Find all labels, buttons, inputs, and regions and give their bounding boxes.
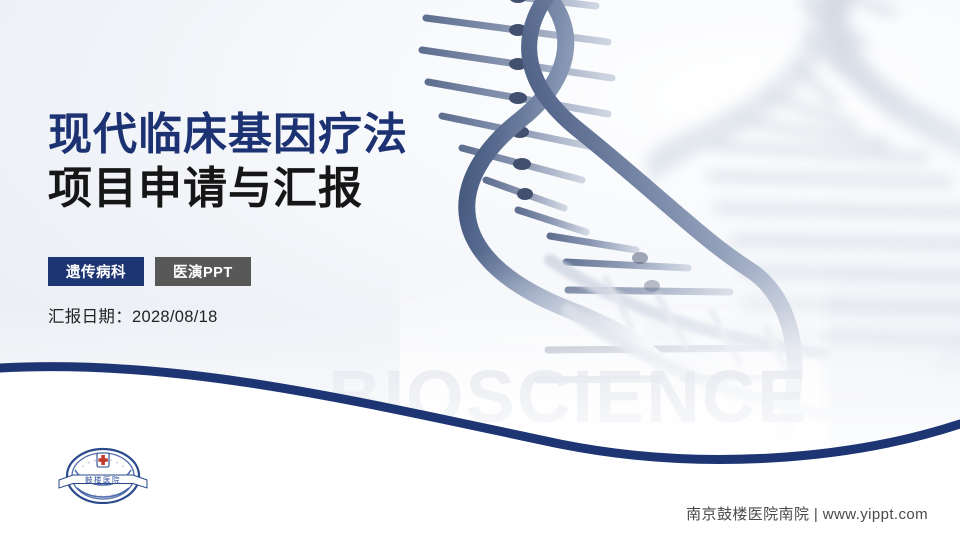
badge-department[interactable]: 遗传病科 [48,257,144,286]
footer-credit: 南京鼓楼医院南院 | www.yippt.com [686,503,928,524]
badge-brand[interactable]: 医演PPT [155,257,251,286]
title-line-1: 现代临床基因疗法 [48,108,408,162]
page-title: 现代临床基因疗法 项目申请与汇报 [48,108,408,215]
logo-ribbon-text: 鼓楼医院 [85,476,121,485]
red-cross-icon [97,453,109,467]
hospital-logo: 鼓楼医院 [49,444,157,504]
title-slide: BIOSCIENCE 现代临床基因疗法 项目申请与汇报 遗传病科 医演PPT 汇… [0,0,960,540]
report-date: 汇报日期：2028/08/18 [48,303,218,327]
badge-group: 遗传病科 医演PPT [48,257,251,286]
title-line-2: 项目申请与汇报 [48,162,408,216]
